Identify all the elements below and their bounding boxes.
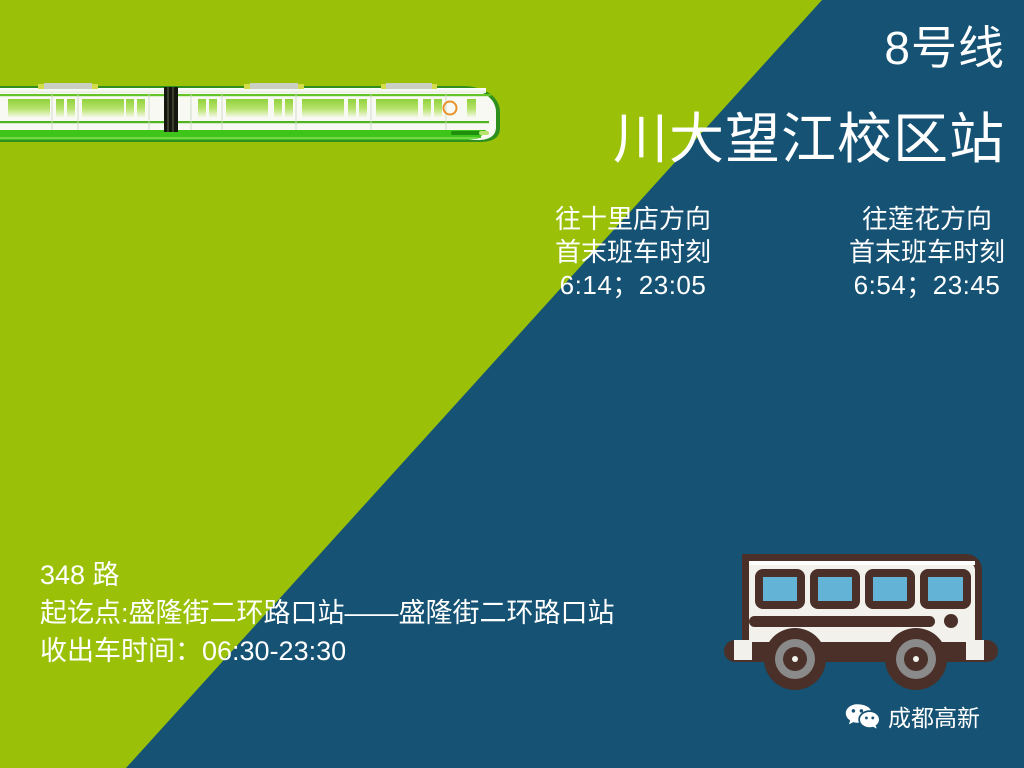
bus-operating-hours: 收出车时间：06:30-23:30 — [40, 632, 615, 670]
station-name-title: 川大望江校区站 — [365, 108, 1005, 170]
wechat-account-badge[interactable]: 成都高新 — [845, 703, 980, 732]
schedule-direction: 往十里店方向 — [555, 203, 711, 236]
schedule-column: 往十里店方向 首末班车时刻 6:14；23:05 — [555, 203, 711, 302]
bus-route-info: 348 路 起讫点:盛隆街二环路口站——盛隆街二环路口站 收出车时间：06:30… — [40, 556, 615, 670]
bus-route-number: 348 路 — [40, 556, 615, 594]
schedule-label: 首末班车时刻 — [849, 236, 1005, 269]
schedule-label: 首末班车时刻 — [555, 236, 711, 269]
schedule-column: 往莲花方向 首末班车时刻 6:54；23:45 — [849, 203, 1005, 302]
schedule-times: 6:14；23:05 — [555, 269, 711, 302]
transit-info-poster: 8号线 川大望江校区站 往十里店方向 首末班车时刻 6:14；23:05 往莲花… — [0, 0, 1024, 768]
bus-route-terminals: 起讫点:盛隆街二环路口站——盛隆街二环路口站 — [40, 594, 615, 632]
schedule-times: 6:54；23:45 — [849, 269, 1005, 302]
wechat-account-name: 成都高新 — [888, 705, 980, 731]
bus-illustration — [716, 528, 1006, 698]
schedule-columns: 往十里店方向 首末班车时刻 6:14；23:05 往莲花方向 首末班车时刻 6:… — [555, 203, 1005, 302]
schedule-direction: 往莲花方向 — [849, 203, 1005, 236]
wechat-icon — [845, 703, 879, 732]
metro-line-title: 8号线 — [485, 22, 1005, 74]
